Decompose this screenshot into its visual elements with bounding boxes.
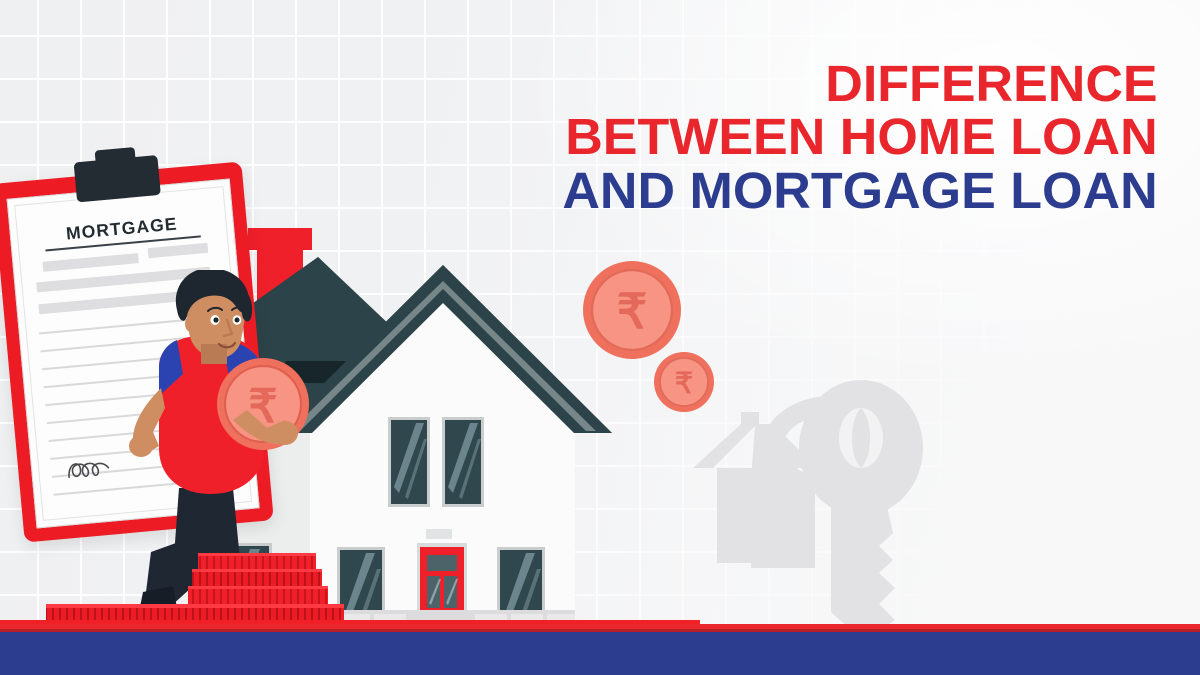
window-gable-left	[388, 417, 430, 507]
poster-canvas: DIFFERENCE BETWEEN HOME LOAN AND MORTGAG…	[0, 0, 1200, 675]
clipboard-clip	[74, 155, 161, 202]
character-hand-near	[272, 421, 298, 445]
text-bar	[42, 253, 139, 272]
coin-stack-second	[192, 569, 322, 586]
svg-text:₹: ₹	[675, 368, 693, 400]
coin-stack-third	[188, 586, 328, 604]
window-gable-right	[442, 417, 484, 507]
poster-title: DIFFERENCE BETWEEN HOME LOAN AND MORTGAG…	[574, 60, 1158, 216]
chimney-cap	[248, 228, 312, 250]
title-line-1: DIFFERENCE	[563, 60, 1158, 109]
coin-stack-top	[198, 553, 316, 569]
character-eye	[213, 317, 218, 322]
title-line-3: AND MORTGAGE LOAN	[563, 167, 1158, 216]
bottom-bar	[0, 632, 1200, 675]
text-bar	[148, 243, 209, 258]
svg-text:₹: ₹	[617, 286, 648, 339]
coin-small: ₹	[652, 350, 716, 414]
coin-large: ₹	[580, 258, 684, 362]
door-transom-vent	[426, 529, 452, 539]
character-hand-far	[129, 435, 153, 457]
title-line-2: BETWEEN HOME LOAN	[563, 113, 1158, 162]
